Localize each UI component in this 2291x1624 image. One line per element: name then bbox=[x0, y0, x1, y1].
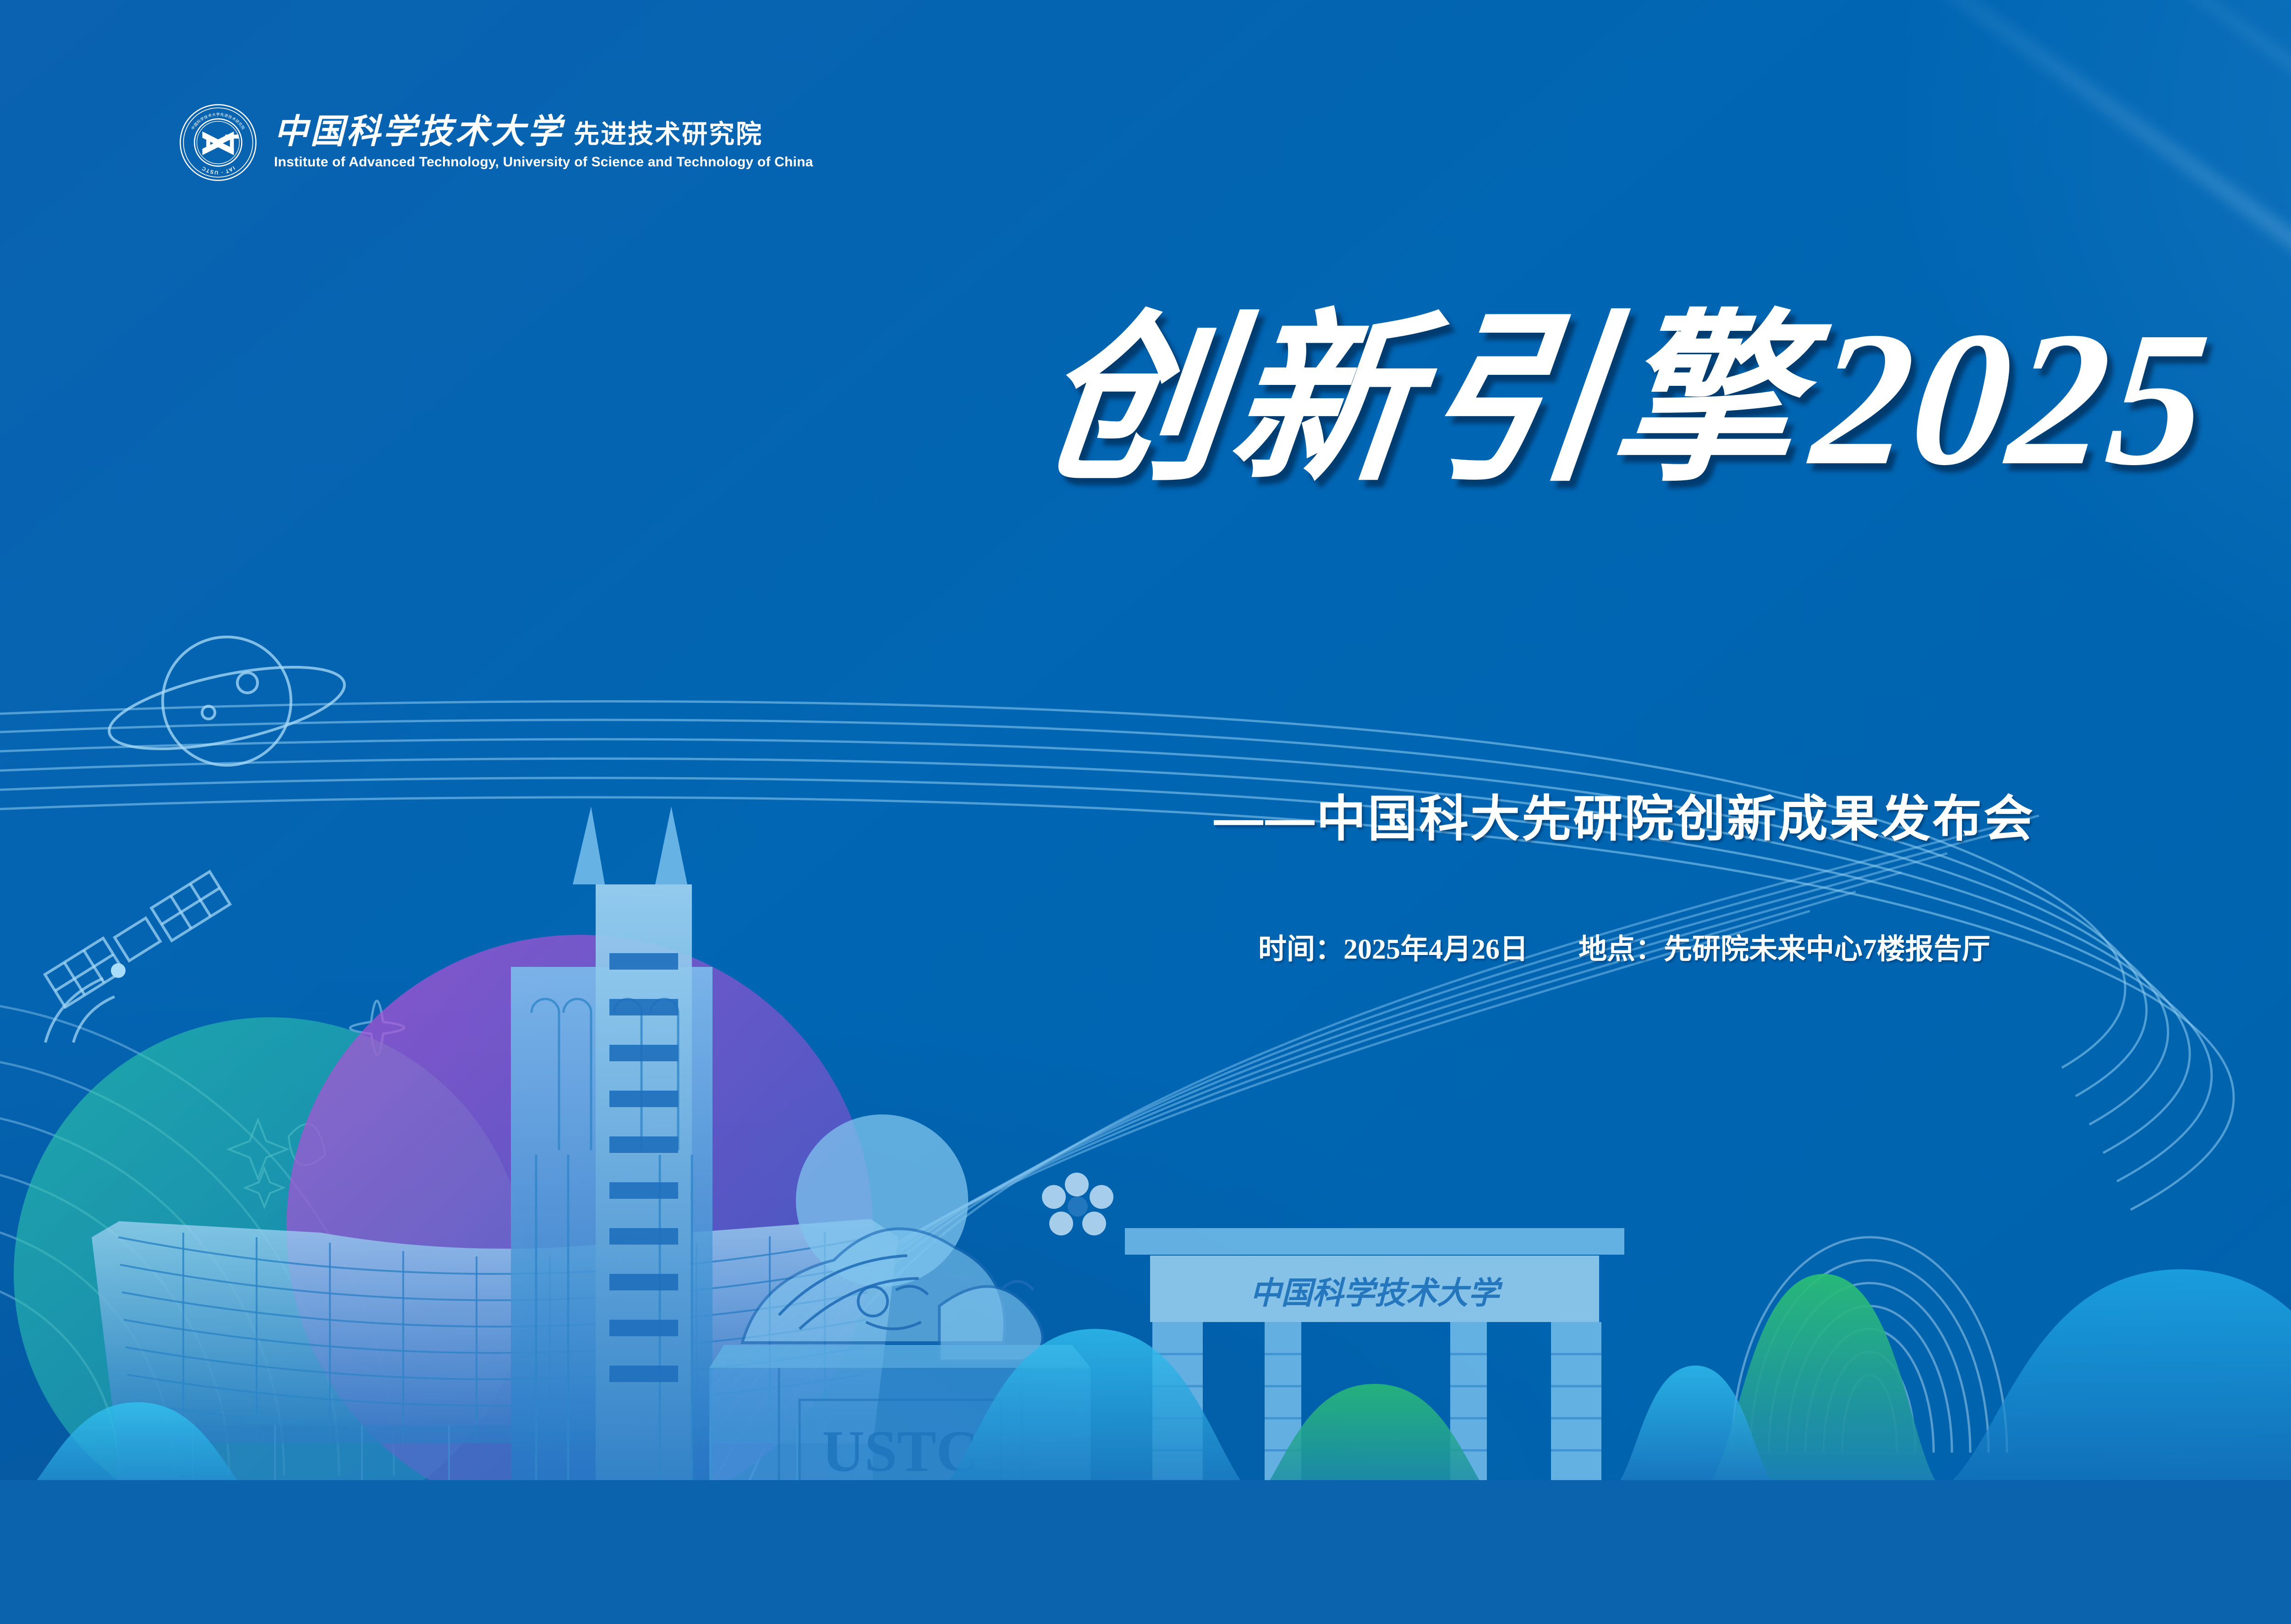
logo-institute-name: 先进技术研究院 bbox=[574, 122, 763, 148]
subtitle-text: ——中国科大先研院创新成果发布会 bbox=[0, 779, 2291, 850]
logo-university-name: 中国科学技术大学 bbox=[274, 115, 564, 149]
iat-ustc-logo: 中国科学技术大学先进技术研究院 IAT · USTC 中国科学技术大学 先进技术… bbox=[179, 103, 813, 182]
plum-blossom-icon bbox=[1042, 1173, 1113, 1235]
logo-chinese-line: 中国科学技术大学 先进技术研究院 bbox=[274, 115, 813, 149]
main-title-group: 创新引擎2025 bbox=[0, 302, 2291, 495]
main-title-chinese: 创新引擎 bbox=[1031, 310, 1813, 494]
event-time-value: 2025年4月26日 bbox=[1343, 934, 1528, 965]
event-place-label: 地点： bbox=[1578, 934, 1664, 965]
gate-nameplate-text: 中国科学技术大学 bbox=[1250, 1276, 1503, 1311]
hill-blue-large bbox=[1915, 1269, 2291, 1498]
event-meta-line: 时间：2025年4月26日地点：先研院未来中心7楼报告厅 bbox=[0, 926, 2291, 967]
event-place-value: 先研院未来中心7楼报告厅 bbox=[1664, 934, 1990, 965]
iat-ustc-emblem-icon: 中国科学技术大学先进技术研究院 IAT · USTC bbox=[179, 103, 258, 182]
logo-text-block: 中国科学技术大学 先进技术研究院 Institute of Advanced T… bbox=[274, 115, 813, 170]
event-time-label: 时间： bbox=[1258, 934, 1343, 965]
landmark-tower-building bbox=[511, 807, 713, 1535]
poster-canvas: USTC 中国科学技术大学 bbox=[0, 0, 2291, 1624]
main-title-year: 2025 bbox=[1805, 302, 2218, 495]
logo-english-name: Institute of Advanced Technology, Univer… bbox=[274, 154, 813, 170]
